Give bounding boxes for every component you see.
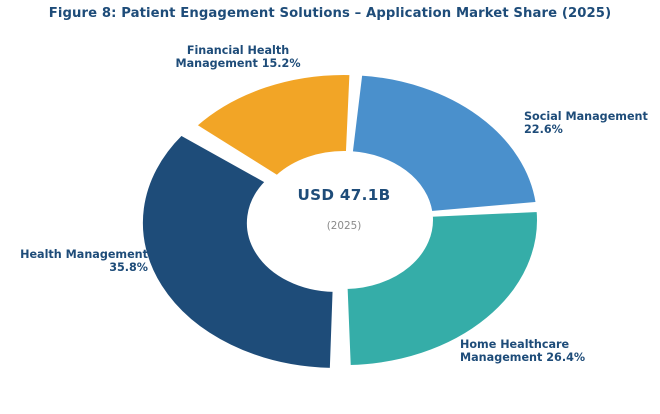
slice-label-social-management: Social Management 22.6% <box>524 110 660 137</box>
figure-container: Figure 8: Patient Engagement Solutions –… <box>0 0 660 414</box>
slice-label-home-healthcare-management: Home Healthcare Management 26.4% <box>460 338 608 365</box>
pie-slice-social-management[interactable]: Social Management 22.6% <box>352 75 537 212</box>
slice-group: Social Management 22.6%Home Healthcare M… <box>142 74 538 369</box>
slice-label-health-management: Health Management 35.8% <box>2 248 148 275</box>
pie-slice-health-management[interactable]: Health Management 35.8% <box>142 135 334 369</box>
slice-label-financial-health-management: Financial Health Management 15.2% <box>158 44 318 71</box>
